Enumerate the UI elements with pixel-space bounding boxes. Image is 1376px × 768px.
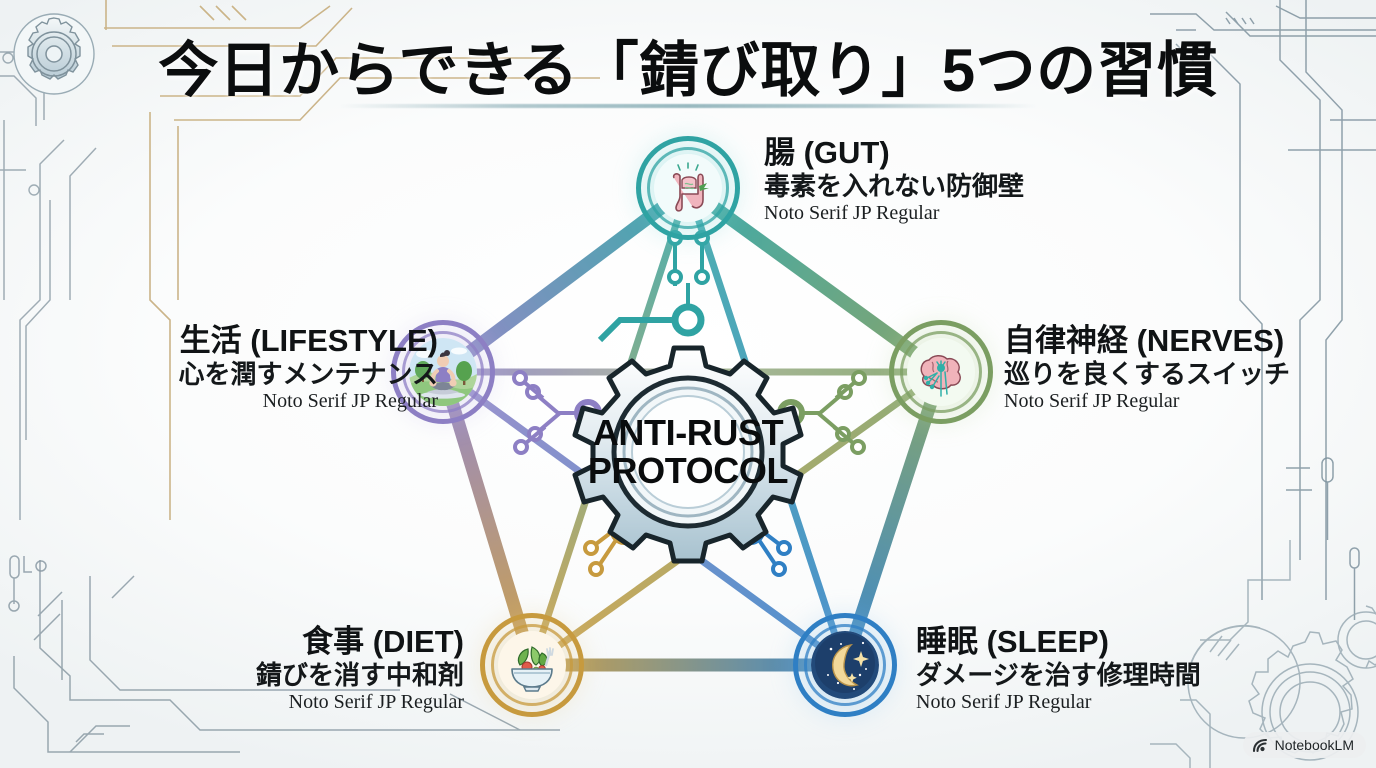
label-gut-fontnote: Noto Serif JP Regular: [764, 201, 1024, 225]
label-sleep: 睡眠 (SLEEP) ダメージを治す修理時間 Noto Serif JP Reg…: [916, 625, 1201, 714]
label-gut-subtitle: 毒素を入れない防御壁: [764, 171, 1024, 202]
label-diet-title: 食事 (DIET): [256, 625, 464, 660]
label-lifestyle: 生活 (LIFESTYLE) 心を潤すメンテナンス Noto Serif JP …: [179, 324, 438, 413]
label-nerves-subtitle: 巡りを良くするスイッチ: [1004, 359, 1290, 390]
center-label: ANTI-RUST PROTOCOL: [588, 414, 788, 490]
salad-bowl-icon: [498, 631, 566, 699]
node-sleep[interactable]: [793, 613, 897, 717]
infographic-slide: 今日からできる「錆び取り」5つの習慣: [0, 0, 1376, 768]
notebooklm-watermark: NotebookLM: [1243, 732, 1366, 758]
center-label-line1: ANTI-RUST: [588, 414, 788, 452]
label-sleep-title: 睡眠 (SLEEP): [916, 625, 1201, 660]
node-gut[interactable]: [636, 136, 740, 240]
label-nerves: 自律神経 (NERVES) 巡りを良くするスイッチ Noto Serif JP …: [1004, 324, 1290, 413]
center-label-line2: PROTOCOL: [588, 452, 788, 490]
brain-icon: [907, 338, 975, 406]
label-sleep-subtitle: ダメージを治す修理時間: [916, 660, 1201, 691]
label-gut: 腸 (GUT) 毒素を入れない防御壁 Noto Serif JP Regular: [764, 136, 1024, 225]
moon-icon: [811, 631, 879, 699]
node-diet[interactable]: [480, 613, 584, 717]
intestine-icon: [654, 154, 722, 222]
label-lifestyle-subtitle: 心を潤すメンテナンス: [179, 359, 438, 390]
label-nerves-fontnote: Noto Serif JP Regular: [1004, 389, 1290, 413]
label-diet-fontnote: Noto Serif JP Regular: [256, 690, 464, 714]
label-diet: 食事 (DIET) 錆びを消す中和剤 Noto Serif JP Regular: [256, 625, 464, 714]
notebooklm-logo-icon: [1252, 738, 1269, 753]
label-diet-subtitle: 錆びを消す中和剤: [256, 660, 464, 691]
label-nerves-title: 自律神経 (NERVES): [1004, 324, 1290, 359]
label-gut-title: 腸 (GUT): [764, 136, 1024, 171]
label-lifestyle-fontnote: Noto Serif JP Regular: [179, 389, 438, 413]
label-sleep-fontnote: Noto Serif JP Regular: [916, 690, 1201, 714]
label-lifestyle-title: 生活 (LIFESTYLE): [179, 324, 438, 359]
node-nerves[interactable]: [889, 320, 993, 424]
notebooklm-label: NotebookLM: [1275, 737, 1354, 753]
